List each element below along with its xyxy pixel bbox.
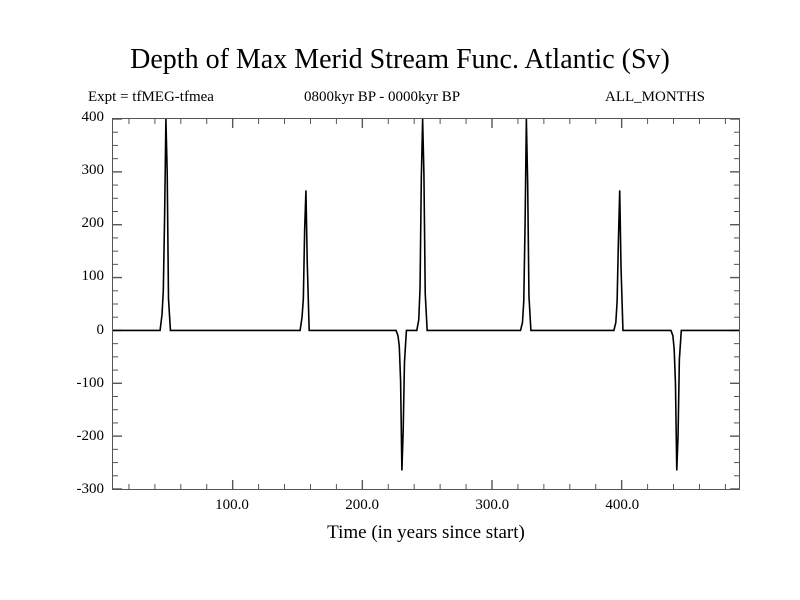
data-series-0 <box>113 119 739 471</box>
y-axis-tick-labels: -300-200-1000100200300400 <box>40 118 104 490</box>
x-tick-label: 300.0 <box>452 496 532 514</box>
plot-series-canvas <box>113 119 739 489</box>
y-tick-label: 100 <box>44 269 104 284</box>
y-tick-label: 400 <box>44 110 104 125</box>
x-tick-label: 200.0 <box>322 496 402 514</box>
y-tick-label: 300 <box>44 163 104 178</box>
months-label: ALL_MONTHS <box>605 87 705 107</box>
figure-canvas: Depth of Max Merid Stream Func. Atlantic… <box>0 0 800 600</box>
y-tick-label: 200 <box>44 216 104 231</box>
subtitle-row: Expt = tfMEG-tfmea 0800kyr BP - 0000kyr … <box>88 87 768 107</box>
period-label: 0800kyr BP - 0000kyr BP <box>304 87 460 107</box>
x-axis-tick-labels: 100.0200.0300.0400.0 <box>112 496 740 518</box>
x-tick-label: 100.0 <box>192 496 272 514</box>
plot-frame <box>112 118 740 490</box>
page-title: Depth of Max Merid Stream Func. Atlantic… <box>0 44 800 76</box>
y-tick-label: 0 <box>44 323 104 338</box>
experiment-label: Expt = tfMEG-tfmea <box>88 87 214 107</box>
x-axis-title: Time (in years since start) <box>112 521 740 545</box>
y-tick-label: -200 <box>44 429 104 444</box>
y-tick-label: -300 <box>44 482 104 497</box>
y-tick-label: -100 <box>44 376 104 391</box>
x-tick-label: 400.0 <box>582 496 662 514</box>
